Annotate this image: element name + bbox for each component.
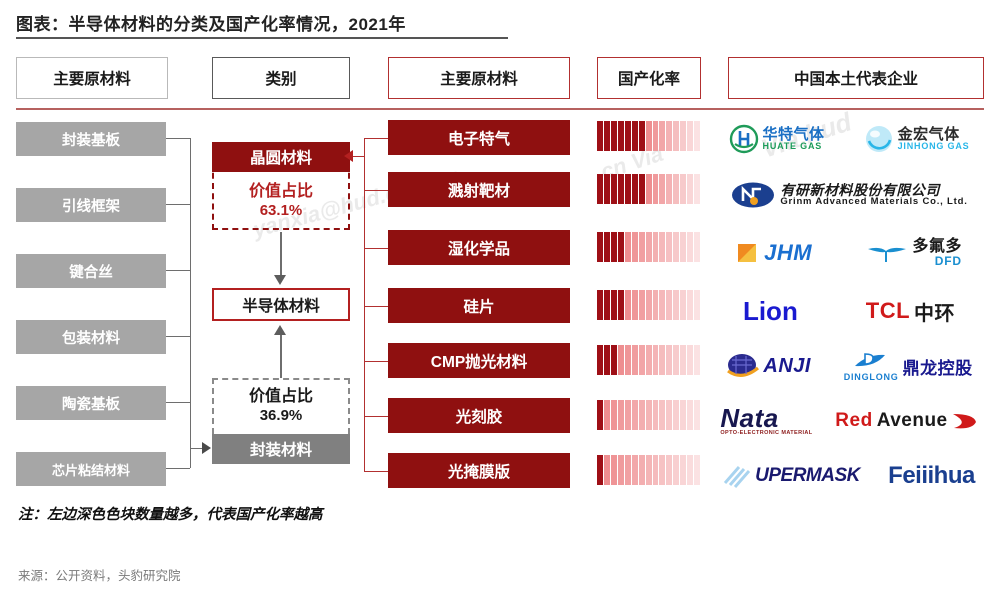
localization-bar-segment [687,121,693,151]
company-logo-cell: Nata OPTO-ELECTRONIC MATERIAL Red Avenue [712,398,986,444]
localization-bar-segment [618,232,624,262]
company-name-cn: Feiiihua [888,462,975,490]
arrow-up-icon [274,325,286,335]
company-name-cn: 华特气体 [763,127,825,142]
localization-bar-segment [639,290,645,320]
localization-bar-segment [632,455,638,485]
company-name-en: Grinm Advanced Materials Co., Ltd. [780,197,967,207]
localization-bar-segment [653,174,659,204]
raw-material-box: 芯片粘结材料 [16,452,166,486]
material-label: 电子特气 [448,127,510,149]
company-name-cn: 多氟多 [912,239,962,255]
company-logo: 华特气体 HUATE GAS [729,124,825,154]
localization-bar-segment [646,174,652,204]
localization-bar-segment [618,455,624,485]
localization-bar-segment [673,290,679,320]
localization-bar-segment [597,400,603,430]
column-header-label: 主要原材料 [440,67,518,89]
localization-bar-segment [639,345,645,375]
dinglong-mark: DINGLONG [844,351,899,382]
localization-bar-segment [625,345,631,375]
localization-bar-segment [604,121,610,151]
company-name-en: OPTO-ELECTRONIC MATERIAL [720,431,812,437]
column-header-label: 主要原材料 [53,67,131,89]
package-material-header: 封装材料 [212,434,350,464]
localization-bar-segment [618,290,624,320]
localization-bar-segment [604,290,610,320]
localization-bar-segment [694,121,700,151]
localization-bar-segment [673,121,679,151]
localization-bar-row [597,345,700,375]
localization-bar-segment [604,455,610,485]
localization-bar-segment [666,345,672,375]
localization-bar-segment [646,400,652,430]
localization-bar-segment [646,345,652,375]
company-logo: Feiiihua [888,462,975,490]
company-name-en: DINGLONG [844,373,899,382]
company-logo-cell: JHM 多氟多 DFD [712,230,986,276]
company-name-cn: Lion [743,296,798,327]
wafer-share-value: 63.1% [260,202,303,220]
localization-bar-segment [680,455,686,485]
localization-bar-segment [666,400,672,430]
localization-bar-segment [639,400,645,430]
company-name-cn: UPERMASK [755,465,860,487]
connector-line-red [364,361,388,362]
localization-bar-segment [597,174,603,204]
connector-line-red [364,138,388,139]
company-logo: 多氟多 DFD [866,239,962,267]
localization-bar-segment [625,121,631,151]
company-logo: JHM [736,240,812,266]
dfd-bird-icon [866,240,908,266]
raw-material-label: 键合丝 [69,261,113,282]
company-name-en: JINHONG GAS [898,142,970,151]
material-box: 溅射靶材 [388,172,570,207]
company-name-cn: ANJI [763,355,811,378]
huate-gas-icon [729,124,759,154]
localization-bar-segment [611,232,617,262]
core-category-box: 半导体材料 [212,288,350,321]
connector-line-red [364,248,388,249]
localization-bar-segment [618,121,624,151]
company-name-cn: 鼎龙控股 [903,354,973,379]
localization-bar-segment [659,400,665,430]
zhonghuan-mark: 中环 [914,297,955,326]
footer-source: 来源：公开资料，头豹研究院 [18,565,181,584]
connector-line [166,270,190,271]
material-label: 溅射靶材 [448,179,510,201]
localization-bar-segment [687,400,693,430]
localization-bar-segment [694,400,700,430]
company-name-cn: Nata [720,405,812,431]
localization-bar-segment [625,400,631,430]
company-name-en: DFD [912,255,962,267]
material-box: 光掩膜版 [388,453,570,488]
arrow-stem-down [280,232,282,276]
column-header-raw-materials-right: 主要原材料 [388,57,570,99]
localization-bar-segment [639,232,645,262]
package-share-value: 36.9% [260,407,303,425]
localization-bar-segment [618,400,624,430]
company-logo: UPERMASK [723,463,860,489]
localization-bar-segment [653,232,659,262]
localization-bar-row [597,174,700,204]
localization-bar-segment [611,345,617,375]
arrow-left-icon [344,150,353,162]
localization-bar-segment [646,232,652,262]
material-label: 光掩膜版 [448,460,510,482]
localization-bar-segment [659,232,665,262]
localization-bar-segment [639,121,645,151]
localization-bar-segment [680,174,686,204]
raw-material-label: 陶瓷基板 [62,393,120,414]
localization-bar-row [597,455,700,485]
localization-bar-segment [604,174,610,204]
localization-bar-segment [632,174,638,204]
localization-bar-segment [687,232,693,262]
material-label: 湿化学品 [448,237,510,259]
localization-bar-segment [653,400,659,430]
company-logo-cell: 有研新材料股份有限公司 Grinm Advanced Materials Co.… [712,172,986,218]
localization-bar-segment [687,174,693,204]
redavenue-swoosh-icon [952,410,978,432]
arrow-stem-up [280,334,282,378]
company-logo-cell: Lion TCL 中环 [712,288,986,334]
wafer-material-label: 晶圆材料 [250,146,312,168]
raw-material-label: 引线框架 [62,195,120,216]
company-name-cn: 金宏气体 [898,127,970,142]
company-name-cn: 有研新材料股份有限公司 [780,183,967,197]
localization-bar-segment [653,455,659,485]
localization-bar-segment [632,400,638,430]
avenue-mark: Avenue [877,410,948,432]
localization-bar-segment [673,232,679,262]
localization-bar-segment [659,345,665,375]
connector-line-red [352,156,364,157]
column-header-companies: 中国本土代表企业 [728,57,984,99]
company-logo: ANJI [725,352,811,380]
column-header-category: 类别 [212,57,350,99]
localization-bar-row [597,400,700,430]
dinglong-wave-icon [851,351,891,373]
localization-bar-segment [659,121,665,151]
wafer-material-header: 晶圆材料 [212,142,350,172]
raw-material-label: 封装基板 [62,129,120,150]
localization-bar-segment [666,290,672,320]
localization-bar-segment [694,232,700,262]
localization-bar-segment [597,345,603,375]
company-logo-cell: ANJI DINGLONG 鼎龙控股 [712,343,986,389]
connector-line-vertical [190,138,191,468]
column-header-label: 中国本土代表企业 [794,67,918,89]
localization-bar-segment [646,290,652,320]
localization-bar-segment [625,232,631,262]
localization-bar-segment [604,345,610,375]
localization-bar-segment [597,290,603,320]
connector-line [166,336,190,337]
localization-bar-segment [673,174,679,204]
localization-bar-segment [680,290,686,320]
raw-material-box: 键合丝 [16,254,166,288]
page-title: 图表：半导体材料的分类及国产化率情况，2021年 [16,10,406,35]
localization-bar-segment [694,174,700,204]
localization-bar-segment [694,345,700,375]
localization-bar-segment [604,400,610,430]
column-header-raw-materials-left: 主要原材料 [16,57,168,99]
package-material-share: 价值占比 36.9% [212,380,350,432]
raw-material-box: 包装材料 [16,320,166,354]
localization-bar-segment [680,232,686,262]
localization-bar-segment [625,455,631,485]
localization-bar-segment [666,455,672,485]
localization-bar-segment [673,455,679,485]
tcl-mark: TCL [866,298,910,324]
company-name-cn: JHM [764,240,812,266]
connector-line [166,204,190,205]
connector-line-red [364,190,388,191]
localization-bar-segment [666,174,672,204]
connector-line-red-vertical [364,138,365,471]
localization-bar-segment [659,174,665,204]
arrow-down-icon [274,275,286,285]
title-underline [16,37,508,39]
company-logo-text: 金宏气体 JINHONG GAS [898,127,970,151]
localization-bar-segment [611,290,617,320]
connector-line [166,468,190,469]
company-logo: TCL 中环 [866,297,955,326]
material-label: CMP抛光材料 [431,350,527,372]
column-header-localization-rate: 国产化率 [597,57,701,99]
package-material-label: 封装材料 [250,438,312,460]
company-logo-text: 华特气体 HUATE GAS [763,127,825,151]
company-name-en: HUATE GAS [763,142,825,151]
localization-bar-segment [632,232,638,262]
localization-bar-segment [694,290,700,320]
material-box: 电子特气 [388,120,570,155]
localization-bar-segment [694,455,700,485]
localization-bar-segment [597,455,603,485]
localization-bar-segment [646,455,652,485]
upermask-stripes-icon [723,463,751,489]
localization-bar-segment [632,290,638,320]
localization-bar-segment [597,121,603,151]
material-box: CMP抛光材料 [388,343,570,378]
connector-line-red [364,306,388,307]
header-separator-line [16,108,984,110]
arrow-right-icon [202,442,211,454]
connector-line-red [364,471,388,472]
company-logo-cell: 华特气体 HUATE GAS 金宏气体 JINHONG GAS [712,116,986,162]
jinhong-gas-icon [864,124,894,154]
localization-bar-segment [653,121,659,151]
grinm-icon [730,180,776,210]
localization-bar-segment [680,121,686,151]
company-logo: 有研新材料股份有限公司 Grinm Advanced Materials Co.… [730,180,967,210]
company-logo: Red Avenue [835,410,977,432]
anji-globe-icon [725,352,759,380]
connector-line [166,138,190,139]
wafer-material-share: 价值占比 63.1% [212,174,350,228]
localization-bar-segment [673,345,679,375]
company-logo: DINGLONG 鼎龙控股 [844,351,973,382]
localization-bar-segment [666,232,672,262]
material-label: 硅片 [463,295,494,317]
material-box: 湿化学品 [388,230,570,265]
localization-bar-segment [597,232,603,262]
raw-material-label: 包装材料 [62,327,120,348]
localization-bar-segment [687,455,693,485]
red-mark: Red [835,410,872,432]
localization-bar-segment [639,174,645,204]
localization-bar-segment [625,290,631,320]
company-logo: 金宏气体 JINHONG GAS [864,124,970,154]
localization-bar-segment [659,455,665,485]
localization-bar-segment [611,455,617,485]
core-category-label: 半导体材料 [242,294,320,316]
localization-bar-segment [618,174,624,204]
localization-bar-segment [673,400,679,430]
jhm-icon [736,240,760,266]
localization-bar-segment [646,121,652,151]
material-box: 光刻胶 [388,398,570,433]
localization-bar-segment [659,290,665,320]
localization-bar-segment [639,455,645,485]
raw-material-box: 陶瓷基板 [16,386,166,420]
chart-page: 图表：半导体材料的分类及国产化率情况，2021年 Via.hud yanxia@… [0,0,1000,593]
raw-material-box: 封装基板 [16,122,166,156]
raw-material-box: 引线框架 [16,188,166,222]
localization-bar-segment [618,345,624,375]
localization-bar-segment [680,345,686,375]
column-header-label: 国产化率 [618,67,680,89]
company-logo: Nata OPTO-ELECTRONIC MATERIAL [720,405,812,437]
connector-line [166,402,190,403]
company-logo-text: Nata OPTO-ELECTRONIC MATERIAL [720,405,812,437]
localization-bar-segment [611,121,617,151]
localization-bar-segment [625,174,631,204]
localization-bar-segment [632,345,638,375]
localization-bar-segment [632,121,638,151]
localization-bar-segment [611,400,617,430]
company-logo-text: 多氟多 DFD [912,239,962,267]
material-label: 光刻胶 [456,405,503,427]
company-logo: Lion [743,296,798,327]
localization-bar-row [597,121,700,151]
column-header-label: 类别 [265,67,296,89]
raw-material-label: 芯片粘结材料 [52,460,130,479]
localization-bar-segment [604,232,610,262]
localization-bar-segment [680,400,686,430]
wafer-share-label: 价值占比 [249,183,313,202]
company-logo-text: 有研新材料股份有限公司 Grinm Advanced Materials Co.… [780,183,967,207]
connector-line-red [364,416,388,417]
localization-bar-segment [666,121,672,151]
localization-bar-row [597,290,700,320]
localization-bar-segment [653,290,659,320]
localization-bar-segment [611,174,617,204]
localization-bar-segment [687,345,693,375]
package-share-label: 价值占比 [249,388,313,407]
footer-note: 注：左边深色色块数量越多，代表国产化率越高 [18,503,323,524]
connector-line-red-vertical [364,138,365,158]
localization-bar-segment [687,290,693,320]
localization-bar-row [597,232,700,262]
material-box: 硅片 [388,288,570,323]
company-logo-cell: UPERMASK Feiiihua [712,453,986,499]
localization-bar-segment [653,345,659,375]
